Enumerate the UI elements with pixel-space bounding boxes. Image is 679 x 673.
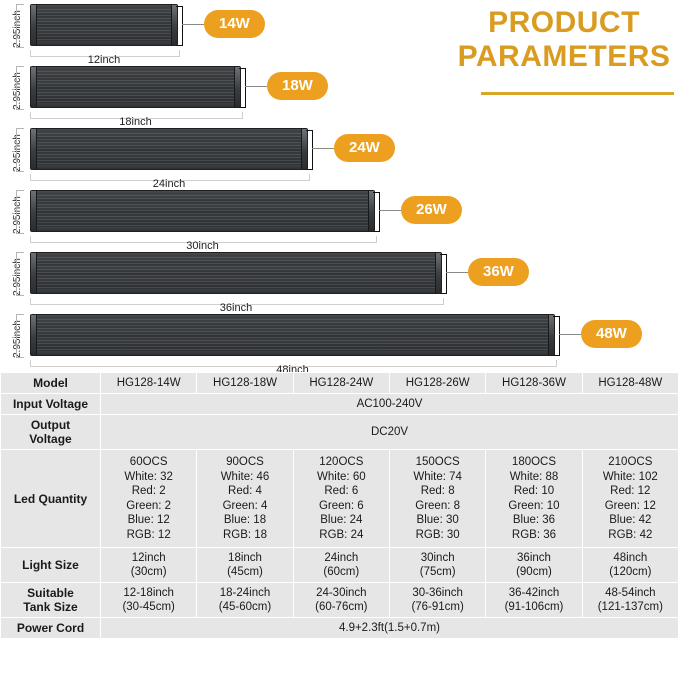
led-green-count: Green: 12 xyxy=(585,499,676,514)
length-dimension-label: 12inch xyxy=(30,54,178,66)
bar-end-cap-left xyxy=(31,5,37,45)
height-dimension-label: 2.95inch xyxy=(0,188,14,234)
tank-size-inch: 30-36inch xyxy=(392,586,483,600)
led-quantity-cell: 210OCSWhite: 102Red: 12Green: 12Blue: 42… xyxy=(583,450,678,547)
wattage-badge: 48W xyxy=(581,320,642,348)
led-rgb-count: RGB: 30 xyxy=(392,528,483,543)
led-total-count: 120OCS xyxy=(296,455,387,470)
row-label-tank-size-line2: Tank Size xyxy=(3,600,98,614)
bar-end-cap-left xyxy=(31,67,37,107)
led-quantity-cell: 150OCSWhite: 74Red: 8Green: 8Blue: 30RGB… xyxy=(390,450,485,547)
tank-size-cell: 36-42inch(91-106cm) xyxy=(486,583,581,617)
row-label-output-voltage-line2: Voltage xyxy=(3,432,98,446)
led-red-count: Red: 6 xyxy=(296,484,387,499)
led-total-count: 180OCS xyxy=(488,455,579,470)
led-blue-count: Blue: 42 xyxy=(585,513,676,528)
row-label-tank-size-line1: Suitable xyxy=(3,586,98,600)
led-green-count: Green: 4 xyxy=(199,499,290,514)
table-row-input-voltage: Input Voltage AC100-240V xyxy=(1,394,678,414)
tank-size-inch: 36-42inch xyxy=(488,586,579,600)
led-quantity-cell: 60OCSWhite: 32Red: 2Green: 2Blue: 12RGB:… xyxy=(101,450,196,547)
led-total-count: 150OCS xyxy=(392,455,483,470)
led-rgb-count: RGB: 42 xyxy=(585,528,676,543)
bar-end-cap-left xyxy=(31,129,37,169)
light-size-cm: (90cm) xyxy=(488,565,579,579)
output-voltage-value: DC20V xyxy=(101,415,678,449)
model-cell: HG128-24W xyxy=(294,373,389,393)
length-dimension-label: 36inch xyxy=(30,302,442,314)
height-dimension-label: 2.95inch xyxy=(0,312,14,358)
light-size-cell: 12inch(30cm) xyxy=(101,548,196,582)
light-size-cell: 48inch(120cm) xyxy=(583,548,678,582)
tank-size-cm: (30-45cm) xyxy=(103,600,194,614)
callout-bracket xyxy=(176,6,183,46)
callout-leader-line xyxy=(559,334,581,335)
light-bar-graphic xyxy=(30,128,308,170)
table-row-light-size: Light Size 12inch(30cm)18inch(45cm)24inc… xyxy=(1,548,678,582)
height-bracket xyxy=(16,252,24,296)
led-rgb-count: RGB: 24 xyxy=(296,528,387,543)
row-label-power-cord: Power Cord xyxy=(1,618,100,638)
light-size-cm: (45cm) xyxy=(199,565,290,579)
callout-bracket xyxy=(239,68,246,108)
light-bar-graphic xyxy=(30,314,555,356)
callout-leader-line xyxy=(245,86,267,87)
wattage-badge: 26W xyxy=(401,196,462,224)
height-dimension-label: 2.95inch xyxy=(0,250,14,296)
wattage-badge: 14W xyxy=(204,10,265,38)
callout-leader-line xyxy=(379,210,401,211)
led-total-count: 210OCS xyxy=(585,455,676,470)
table-row-led-quantity: Led Quantity 60OCSWhite: 32Red: 2Green: … xyxy=(1,450,678,547)
tank-size-cell: 24-30inch(60-76cm) xyxy=(294,583,389,617)
height-bracket xyxy=(16,314,24,358)
led-white-count: White: 88 xyxy=(488,470,579,485)
row-label-light-size: Light Size xyxy=(1,548,100,582)
led-quantity-cell: 180OCSWhite: 88Red: 10Green: 10Blue: 36R… xyxy=(486,450,581,547)
light-size-inch: 48inch xyxy=(585,551,676,565)
length-dimension-label: 24inch xyxy=(30,178,308,190)
table-row-output-voltage: Output Voltage DC20V xyxy=(1,415,678,449)
callout-leader-line xyxy=(446,272,468,273)
model-cell: HG128-48W xyxy=(583,373,678,393)
row-label-output-voltage-line1: Output xyxy=(3,418,98,432)
light-size-cell: 36inch(90cm) xyxy=(486,548,581,582)
title-line-1: PRODUCT xyxy=(455,6,673,40)
table-row-power-cord: Power Cord 4.9+2.3ft(1.5+0.7m) xyxy=(1,618,678,638)
led-total-count: 60OCS xyxy=(103,455,194,470)
model-cell: HG128-26W xyxy=(390,373,485,393)
model-cell: HG128-14W xyxy=(101,373,196,393)
led-white-count: White: 46 xyxy=(199,470,290,485)
led-white-count: White: 74 xyxy=(392,470,483,485)
light-bar-graphic xyxy=(30,66,241,108)
table-row-model: Model HG128-14W HG128-18W HG128-24W HG12… xyxy=(1,373,678,393)
callout-leader-line xyxy=(182,24,204,25)
led-rgb-count: RGB: 36 xyxy=(488,528,579,543)
callout-leader-line xyxy=(312,148,334,149)
led-white-count: White: 102 xyxy=(585,470,676,485)
callout-bracket xyxy=(306,130,313,170)
light-size-cell: 30inch(75cm) xyxy=(390,548,485,582)
tank-size-cell: 30-36inch(76-91cm) xyxy=(390,583,485,617)
length-dimension-label: 30inch xyxy=(30,240,375,252)
row-label-output-voltage: Output Voltage xyxy=(1,415,100,449)
title-line-2: PARAMETERS xyxy=(455,40,673,74)
light-size-cm: (75cm) xyxy=(392,565,483,579)
led-quantity-cell: 90OCSWhite: 46Red: 4Green: 4Blue: 18RGB:… xyxy=(197,450,292,547)
led-green-count: Green: 10 xyxy=(488,499,579,514)
tank-size-cm: (76-91cm) xyxy=(392,600,483,614)
table-row-tank-size: Suitable Tank Size 12-18inch(30-45cm)18-… xyxy=(1,583,678,617)
power-cord-value: 4.9+2.3ft(1.5+0.7m) xyxy=(101,618,678,638)
light-bar-graphic xyxy=(30,190,375,232)
light-size-inch: 30inch xyxy=(392,551,483,565)
led-quantity-cell: 120OCSWhite: 60Red: 6Green: 6Blue: 24RGB… xyxy=(294,450,389,547)
length-dimension-label: 18inch xyxy=(30,116,241,128)
light-size-cm: (60cm) xyxy=(296,565,387,579)
wattage-badge: 18W xyxy=(267,72,328,100)
led-red-count: Red: 4 xyxy=(199,484,290,499)
height-dimension-label: 2.95inch xyxy=(0,2,14,48)
row-label-led-quantity: Led Quantity xyxy=(1,450,100,547)
tank-size-cell: 18-24inch(45-60cm) xyxy=(197,583,292,617)
tank-size-inch: 18-24inch xyxy=(199,586,290,600)
light-size-inch: 24inch xyxy=(296,551,387,565)
tank-size-inch: 24-30inch xyxy=(296,586,387,600)
wattage-badge: 24W xyxy=(334,134,395,162)
height-bracket xyxy=(16,4,24,48)
tank-size-cm: (60-76cm) xyxy=(296,600,387,614)
row-label-model: Model xyxy=(1,373,100,393)
led-green-count: Green: 6 xyxy=(296,499,387,514)
height-bracket xyxy=(16,190,24,234)
led-blue-count: Blue: 24 xyxy=(296,513,387,528)
height-bracket xyxy=(16,128,24,172)
light-bar-graphic xyxy=(30,4,178,46)
bar-end-cap-left xyxy=(31,253,37,293)
led-rgb-count: RGB: 12 xyxy=(103,528,194,543)
bar-end-cap-left xyxy=(31,191,37,231)
height-bracket xyxy=(16,66,24,110)
tank-size-cell: 12-18inch(30-45cm) xyxy=(101,583,196,617)
tank-size-cm: (45-60cm) xyxy=(199,600,290,614)
light-size-cm: (30cm) xyxy=(103,565,194,579)
height-dimension-label: 2.95inch xyxy=(0,126,14,172)
wattage-badge: 36W xyxy=(468,258,529,286)
tank-size-inch: 48-54inch xyxy=(585,586,676,600)
led-red-count: Red: 2 xyxy=(103,484,194,499)
model-cell: HG128-18W xyxy=(197,373,292,393)
led-red-count: Red: 8 xyxy=(392,484,483,499)
led-blue-count: Blue: 18 xyxy=(199,513,290,528)
tank-size-cm: (121-137cm) xyxy=(585,600,676,614)
led-white-count: White: 32 xyxy=(103,470,194,485)
light-size-cell: 24inch(60cm) xyxy=(294,548,389,582)
led-white-count: White: 60 xyxy=(296,470,387,485)
light-size-cell: 18inch(45cm) xyxy=(197,548,292,582)
light-bar-graphic xyxy=(30,252,442,294)
led-red-count: Red: 10 xyxy=(488,484,579,499)
row-label-tank-size: Suitable Tank Size xyxy=(1,583,100,617)
product-diagram-area: PRODUCT PARAMETERS 2.95inch14W12inch2.95… xyxy=(0,0,679,372)
led-total-count: 90OCS xyxy=(199,455,290,470)
callout-bracket xyxy=(440,254,447,294)
page-title: PRODUCT PARAMETERS xyxy=(455,6,673,74)
light-size-inch: 18inch xyxy=(199,551,290,565)
tank-size-inch: 12-18inch xyxy=(103,586,194,600)
row-label-input-voltage: Input Voltage xyxy=(1,394,100,414)
light-size-inch: 36inch xyxy=(488,551,579,565)
height-dimension-label: 2.95inch xyxy=(0,64,14,110)
callout-bracket xyxy=(553,316,560,356)
light-size-cm: (120cm) xyxy=(585,565,676,579)
led-blue-count: Blue: 36 xyxy=(488,513,579,528)
led-blue-count: Blue: 12 xyxy=(103,513,194,528)
title-underline xyxy=(481,92,674,95)
led-rgb-count: RGB: 18 xyxy=(199,528,290,543)
led-green-count: Green: 8 xyxy=(392,499,483,514)
light-size-inch: 12inch xyxy=(103,551,194,565)
model-cell: HG128-36W xyxy=(486,373,581,393)
tank-size-cm: (91-106cm) xyxy=(488,600,579,614)
tank-size-cell: 48-54inch(121-137cm) xyxy=(583,583,678,617)
specification-table: Model HG128-14W HG128-18W HG128-24W HG12… xyxy=(0,372,679,639)
callout-bracket xyxy=(373,192,380,232)
led-green-count: Green: 2 xyxy=(103,499,194,514)
led-blue-count: Blue: 30 xyxy=(392,513,483,528)
input-voltage-value: AC100-240V xyxy=(101,394,678,414)
led-red-count: Red: 12 xyxy=(585,484,676,499)
bar-end-cap-left xyxy=(31,315,37,355)
